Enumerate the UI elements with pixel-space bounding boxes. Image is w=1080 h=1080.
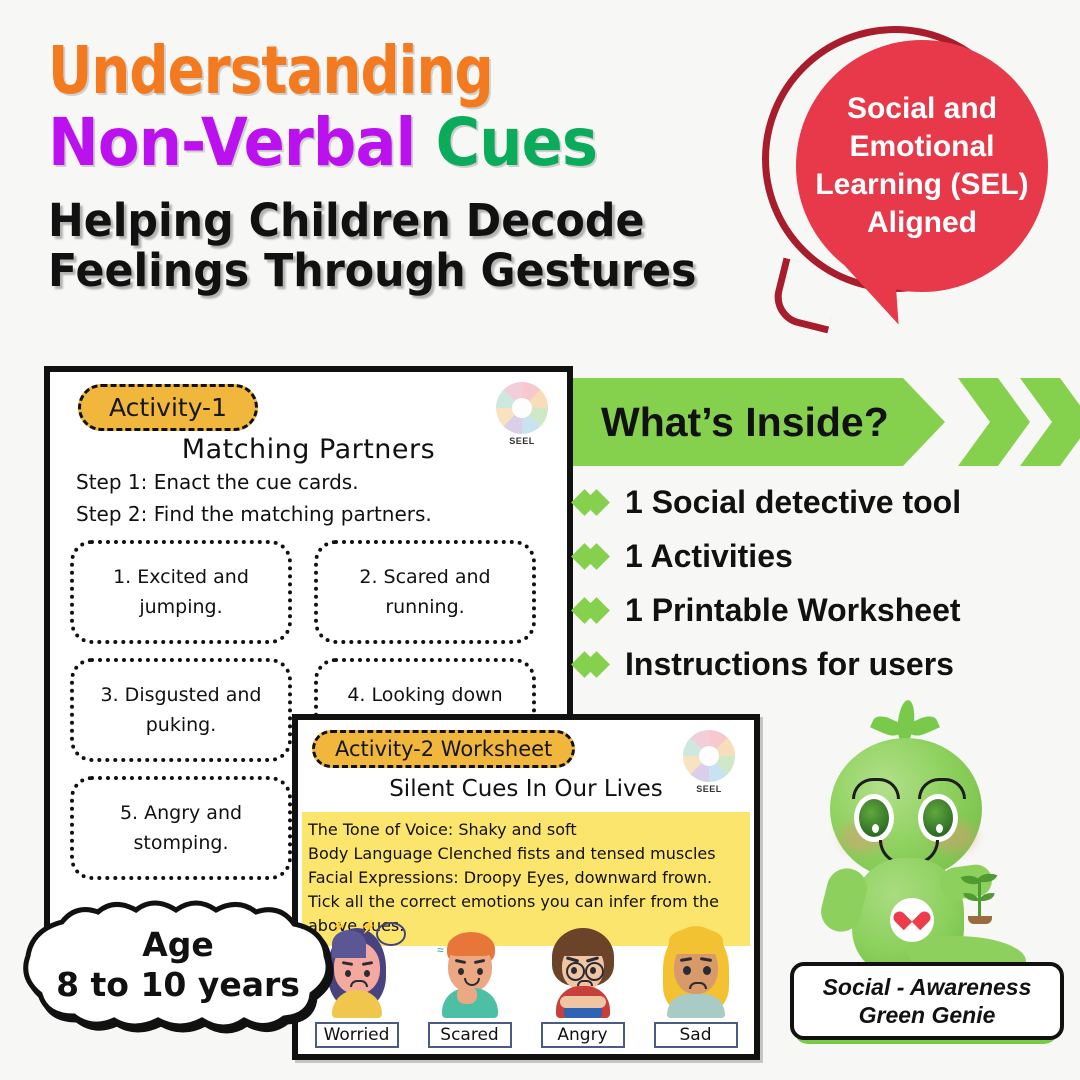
list-item-label: 1 Activities — [625, 538, 793, 575]
list-item: 1 Printable Worksheet — [575, 592, 1075, 629]
subtitle: Helping Children Decode Feelings Through… — [48, 196, 713, 296]
eye — [703, 966, 711, 975]
eye — [683, 966, 691, 975]
eye — [364, 970, 370, 977]
chevron-right-icon — [958, 378, 1030, 466]
list-item: Instructions for users — [575, 646, 1075, 683]
age-badge-text: Age 8 to 10 years — [18, 900, 338, 1030]
lightning-icon: ⚡ — [360, 920, 376, 933]
sel-aligned-badge: Social and Emotional Learning (SEL) Alig… — [762, 22, 1060, 352]
cue-card: 3. Disgusted and puking. — [70, 658, 292, 762]
eye — [571, 967, 577, 974]
list-item-label: Instructions for users — [625, 646, 954, 683]
emotion-label: Sad — [654, 1022, 738, 1048]
seedling-stem — [978, 880, 981, 918]
activity-2-pill: Activity-2 Worksheet — [312, 730, 575, 768]
cue-line: Facial Expressions: Droopy Eyes, downwar… — [308, 866, 744, 890]
activity-1-step-1: Step 1: Enact the cue cards. — [76, 470, 359, 494]
seel-wheel-icon — [496, 382, 548, 434]
hair-front — [448, 934, 492, 956]
title-nonverbal: Non-Verbal — [48, 104, 415, 181]
seedling-leaf — [963, 891, 979, 903]
age-range: 8 to 10 years — [56, 965, 300, 1005]
stress-cloud-icon — [376, 922, 406, 946]
poster-canvas: Understanding Non-Verbal Cues Helping Ch… — [0, 0, 1080, 1080]
eye — [458, 968, 464, 975]
emotion-label: Angry — [541, 1022, 625, 1048]
diamond-chevron-bullet-icon — [575, 490, 613, 516]
mouth — [350, 980, 368, 987]
eye — [477, 968, 483, 975]
activity-2-heading: Silent Cues In Our Lives — [298, 776, 754, 802]
whats-inside-title: What’s Inside? — [601, 399, 889, 446]
title-cues: Cues — [436, 104, 597, 181]
sel-line-1: Social and — [815, 90, 1028, 128]
list-item: 1 Activities — [575, 538, 1075, 575]
cue-card: 5. Angry and stomping. — [70, 776, 292, 880]
sel-line-3: Learning (SEL) — [815, 166, 1028, 204]
mascot-name-label: Social - Awareness Green Genie — [790, 962, 1060, 1046]
mascot-label-line-2: Green Genie — [859, 1001, 996, 1029]
diamond-chevron-bullet-icon — [575, 598, 613, 624]
list-item: 1 Social detective tool — [575, 484, 1075, 521]
genie-eye-gleam-right — [936, 824, 943, 833]
activity-1-heading: Matching Partners — [50, 434, 567, 465]
activity-2-worksheet: Activity-2 Worksheet SEEL Silent Cues In… — [292, 714, 760, 1060]
emotion-card-angry: Angry — [530, 920, 635, 1048]
title-block: Understanding Non-Verbal Cues Helping Ch… — [48, 36, 748, 296]
seedling-soil — [968, 916, 992, 924]
seedling-icon — [958, 868, 1002, 924]
list-item-label: 1 Social detective tool — [625, 484, 961, 521]
emotion-card-sad: Sad — [643, 920, 748, 1048]
diamond-chevron-bullet-icon — [575, 652, 613, 678]
sad-girl-illustration — [643, 920, 748, 1016]
shirt — [667, 994, 725, 1018]
sel-badge-text: Social and Emotional Learning (SEL) Alig… — [815, 90, 1028, 242]
eye — [345, 970, 351, 977]
subtitle-line-1: Helping Children Decode — [48, 196, 713, 246]
mouth — [689, 982, 707, 989]
scared-boy-illustration: ≈ — [417, 920, 522, 1016]
title-line-1: Understanding — [48, 36, 692, 106]
hair-front — [669, 928, 723, 954]
angry-girl-illustration — [530, 920, 635, 1016]
genie-eye-gleam-left — [872, 824, 879, 833]
green-genie-mascot — [790, 700, 1050, 980]
emotion-card-scared: ≈ Scared — [417, 920, 522, 1048]
mascot-label-box: Social - Awareness Green Genie — [790, 962, 1064, 1040]
title-line-2: Non-Verbal Cues — [48, 106, 692, 180]
sel-badge-bubble: Social and Emotional Learning (SEL) Alig… — [796, 40, 1048, 292]
age-label: Age — [142, 925, 214, 965]
emotion-label: Scared — [428, 1022, 512, 1048]
whats-inside-banner: What’s Inside? — [573, 378, 1080, 466]
sel-line-4: Aligned — [815, 204, 1028, 242]
activity-1-pill: Activity-1 — [78, 384, 258, 431]
emotion-card-row: ⚡ ⚡ Worried ≈ — [304, 920, 750, 1048]
cue-card: 2. Scared and running. — [314, 540, 536, 644]
whats-inside-list: 1 Social detective tool 1 Activities 1 P… — [575, 484, 1075, 700]
subtitle-line-2: Feelings Through Gestures — [48, 246, 713, 296]
crossed-arms — [560, 996, 606, 1008]
age-badge: Age 8 to 10 years — [18, 900, 338, 1030]
motion-lines-icon: ≈ — [437, 944, 444, 956]
mascot-label-line-1: Social - Awareness — [823, 973, 1032, 1001]
eye — [590, 967, 596, 974]
seedling-leaf — [979, 891, 995, 903]
bangs — [558, 934, 608, 956]
activity-1-step-2: Step 2: Find the matching partners. — [76, 502, 432, 526]
cue-line: Body Language Clenched fists and tensed … — [308, 842, 744, 866]
heart-icon — [902, 908, 924, 930]
seel-wheel-icon — [683, 730, 735, 782]
diamond-chevron-bullet-icon — [575, 544, 613, 570]
hand — [457, 986, 477, 1004]
sel-line-2: Emotional — [815, 128, 1028, 166]
whats-inside-banner-body: What’s Inside? — [573, 378, 945, 466]
cue-line: The Tone of Voice: Shaky and soft — [308, 818, 744, 842]
list-item-label: 1 Printable Worksheet — [625, 592, 961, 629]
cue-card: 1. Excited and jumping. — [70, 540, 292, 644]
